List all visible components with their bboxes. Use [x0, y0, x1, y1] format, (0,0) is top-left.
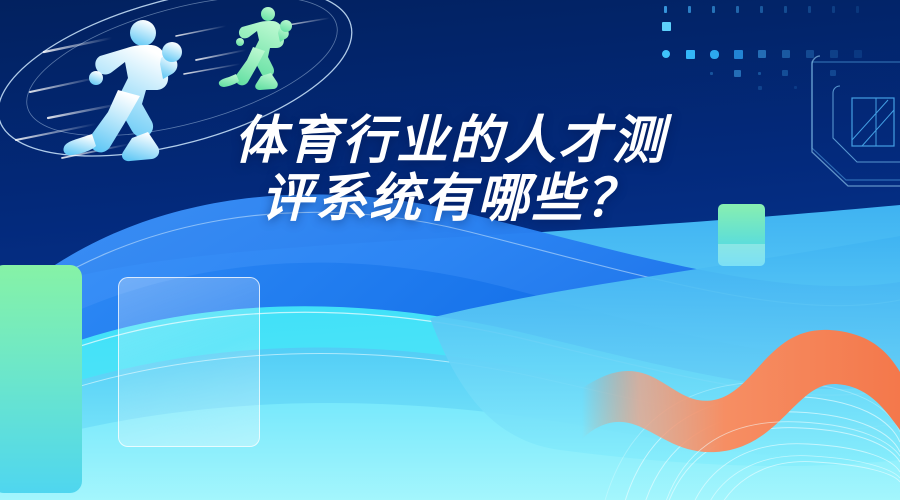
glass-card: [118, 277, 260, 447]
poster-canvas: 体育行业的人才测 评系统有哪些？: [0, 0, 900, 500]
gradient-card-left: [0, 265, 82, 493]
gradient-card-right: [718, 204, 765, 266]
